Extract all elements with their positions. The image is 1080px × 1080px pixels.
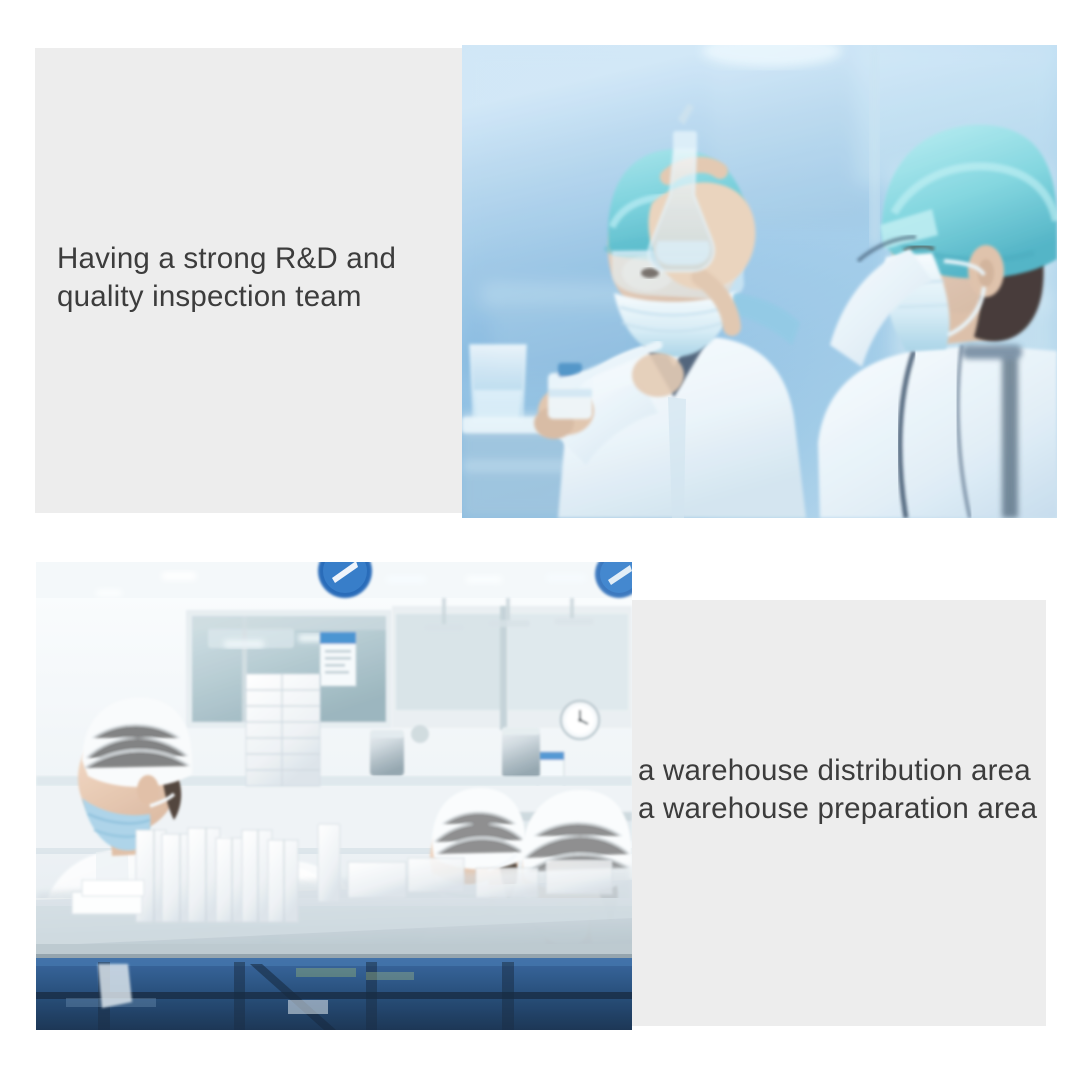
rnd-caption-text: Having a strong R&D and quality inspecti… [57, 240, 457, 316]
lab-scene [462, 45, 1057, 518]
slide-canvas: Having a strong R&D and quality inspecti… [0, 0, 1080, 1080]
lab-inspection-photo [462, 45, 1057, 518]
packing-scene [36, 562, 632, 1030]
warehouse-caption-text: a warehouse distribution area a warehous… [638, 752, 1058, 828]
packing-line-photo [36, 562, 632, 1030]
packing-scene-graphic [36, 562, 632, 1030]
lab-scene-graphic [462, 45, 1057, 518]
